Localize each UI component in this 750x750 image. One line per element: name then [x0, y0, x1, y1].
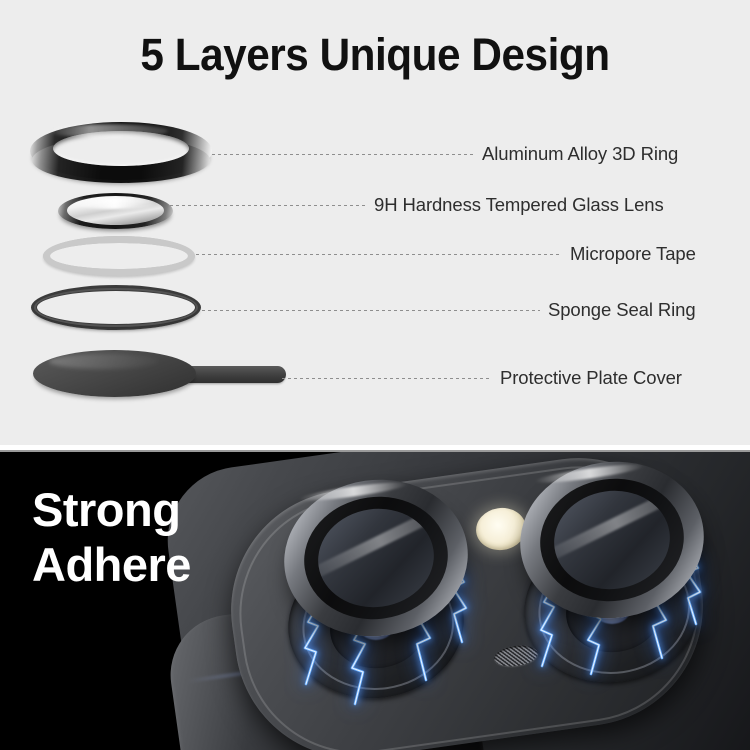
- tape-ring-highlight: [43, 236, 195, 276]
- sponge-seal-ring-art: [31, 285, 201, 330]
- headline-line-2: Adhere: [32, 537, 292, 592]
- protector-ring-left: [274, 468, 478, 648]
- callout-micropore-tape: Micropore Tape: [196, 243, 696, 265]
- protective-plate-cover-art: [33, 350, 288, 400]
- callout-protective-plate-cover: Protective Plate Cover: [282, 367, 682, 389]
- plate-gloss-highlight: [49, 354, 159, 369]
- protector-ring-right: [510, 452, 714, 630]
- leader-line-icon: [202, 310, 540, 311]
- leader-line-icon: [196, 254, 562, 255]
- glass-shine-highlight: [74, 198, 154, 209]
- callout-label: Sponge Seal Ring: [548, 299, 696, 321]
- callout-label: Aluminum Alloy 3D Ring: [482, 143, 678, 165]
- callout-sponge-seal-ring: Sponge Seal Ring: [202, 299, 696, 321]
- callout-label: 9H Hardness Tempered Glass Lens: [374, 194, 664, 216]
- tempered-glass-lens-art: [58, 188, 173, 234]
- page-title: 5 Layers Unique Design: [23, 28, 728, 82]
- leader-line-icon: [170, 205, 366, 206]
- aluminum-3d-ring-art: [30, 122, 212, 186]
- leader-line-icon: [212, 154, 474, 155]
- layers-diagram-section: 5 Layers Unique Design: [0, 0, 750, 445]
- callout-9h-tempered-glass-lens: 9H Hardness Tempered Glass Lens: [170, 194, 664, 216]
- micropore-tape-art: [43, 236, 195, 276]
- callout-label: Protective Plate Cover: [500, 367, 682, 389]
- headline-line-1: Strong: [32, 482, 292, 537]
- leader-line-icon: [282, 378, 492, 379]
- callout-label: Micropore Tape: [570, 243, 696, 265]
- product-infographic: 5 Layers Unique Design: [0, 0, 750, 750]
- strong-adhere-photo-section: Strong Adhere: [0, 452, 750, 750]
- callout-aluminum-alloy-3d-ring: Aluminum Alloy 3D Ring: [212, 143, 678, 165]
- strong-adhere-headline: Strong Adhere: [32, 482, 292, 592]
- sponge-ring-inner: [34, 288, 198, 327]
- ring-gloss-highlight: [48, 124, 168, 138]
